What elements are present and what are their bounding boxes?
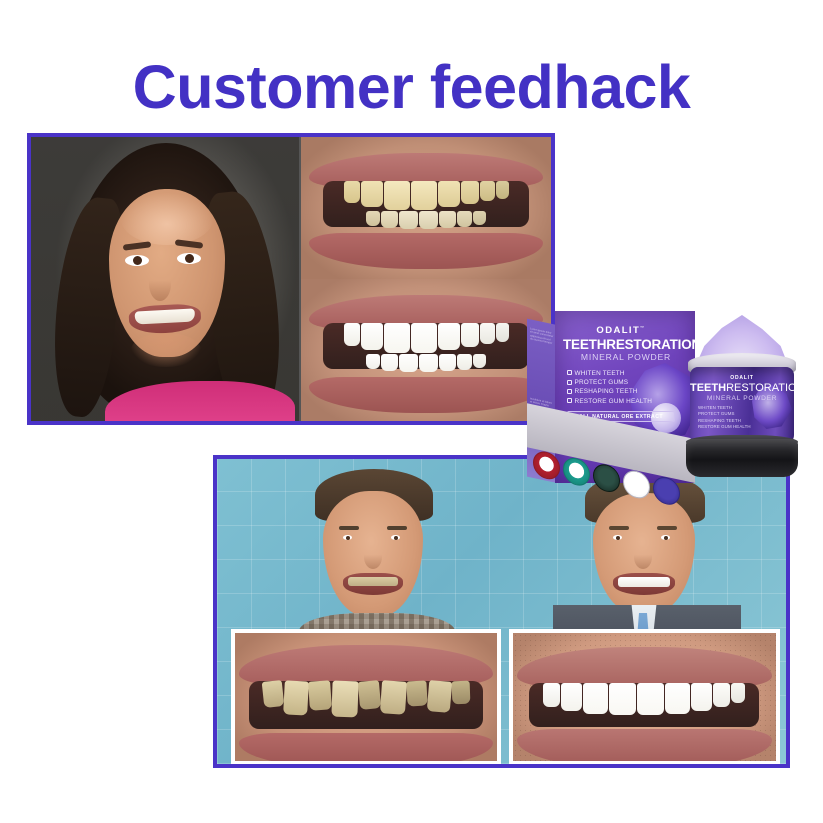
upper-teeth-after xyxy=(329,323,523,353)
male-after-closeup xyxy=(509,629,780,765)
female-before-after-mouths xyxy=(301,137,551,421)
upper-lip xyxy=(239,645,493,685)
jar-benefit-list: WHITEN TEETH PROTECT GUMS RESHAPING TEET… xyxy=(698,405,751,431)
lower-teeth-after xyxy=(335,354,517,372)
nose-shape xyxy=(364,545,382,569)
teeth-row xyxy=(135,308,196,324)
eye-left xyxy=(613,535,622,540)
benefit-item: RESTORE GUM HEALTH xyxy=(698,424,751,430)
eyebrow-left xyxy=(609,526,629,530)
eye-right xyxy=(391,535,400,540)
green-shield-seal-icon xyxy=(593,462,620,495)
jar-product-subtitle: MINERAL POWDER xyxy=(690,395,794,402)
lower-teeth-before xyxy=(335,211,517,229)
lower-lip xyxy=(517,729,772,765)
box-brand-name: ODALIT™ xyxy=(555,325,687,336)
usa-flag-seal-icon xyxy=(533,449,560,482)
box-product-subtitle: MINERAL POWDER xyxy=(563,352,689,362)
jar-product-title: TEETHRESTORATION xyxy=(690,382,794,394)
forehead-highlight xyxy=(121,193,213,245)
trademark-symbol: ™ xyxy=(640,325,645,330)
dental-approved-seal-icon xyxy=(563,455,590,488)
box-product-title: TEETHRESTORATION xyxy=(563,337,689,352)
eye-right xyxy=(661,535,670,540)
benefit-item: RESHAPING TEETH xyxy=(567,387,652,396)
female-before-mouth-photo xyxy=(301,137,551,279)
male-before-closeup xyxy=(231,629,501,765)
page-title: Customer feedhack xyxy=(0,52,823,122)
woman-portrait-photo xyxy=(31,137,299,421)
benefit-item: RESTORE GUM HEALTH xyxy=(567,397,652,406)
title-bold: TEETH xyxy=(690,382,726,394)
eye-left xyxy=(125,255,149,266)
female-after-mouth-photo xyxy=(301,279,551,421)
teeth-row xyxy=(348,577,398,586)
eyebrow-right xyxy=(657,526,677,530)
title-light: RESTORATION xyxy=(606,337,695,352)
lower-lip xyxy=(309,233,543,269)
smiling-mouth-before xyxy=(343,573,403,595)
brand-text: ODALIT xyxy=(596,325,640,336)
eyebrow-right xyxy=(387,526,407,530)
chin-highlight xyxy=(131,333,201,367)
restored-teeth-row xyxy=(535,683,753,715)
jar-black-base xyxy=(686,439,798,477)
damaged-teeth-row xyxy=(255,681,477,717)
man-before-photo xyxy=(281,469,471,649)
eyebrow-left xyxy=(339,526,359,530)
box-side-text-1: Lorem ipsum dolor sit amet consectetur a… xyxy=(530,327,554,346)
nose-shape xyxy=(149,267,171,301)
jar-label-body: ODALIT TEETHRESTORATION MINERAL POWDER W… xyxy=(690,367,794,445)
checkbox-icon xyxy=(567,389,572,394)
checkbox-icon xyxy=(567,398,572,403)
product-box: Lorem ipsum dolor sit amet consectetur a… xyxy=(527,311,710,494)
eye-left xyxy=(343,535,352,540)
lower-lip xyxy=(239,733,493,765)
smiling-mouth-after xyxy=(613,573,675,595)
female-testimonial-panel xyxy=(27,133,555,425)
product-jar: ODALIT TEETHRESTORATION MINERAL POWDER W… xyxy=(684,315,800,485)
nose-shape xyxy=(634,545,652,569)
male-testimonial-panel xyxy=(213,455,790,768)
title-light: RESTORATION xyxy=(726,382,794,394)
upper-teeth-before xyxy=(329,181,523,210)
benefit-item: PROTECT GUMS xyxy=(567,378,652,387)
checkbox-icon xyxy=(567,380,572,385)
benefit-item: WHITEN TEETH xyxy=(567,369,652,378)
box-benefit-list: WHITEN TEETH PROTECT GUMS RESHAPING TEET… xyxy=(567,369,652,406)
advertisement-page: Customer feedhack xyxy=(0,0,823,823)
white-certification-seal-icon xyxy=(623,468,650,501)
title-bold: TEETH xyxy=(563,337,606,352)
jar-brand-name: ODALIT xyxy=(690,375,794,381)
lower-lip xyxy=(309,377,543,413)
blue-ce-seal-icon xyxy=(653,475,680,508)
teeth-row xyxy=(618,577,670,587)
eye-right xyxy=(177,253,201,264)
checkbox-icon xyxy=(567,370,572,375)
